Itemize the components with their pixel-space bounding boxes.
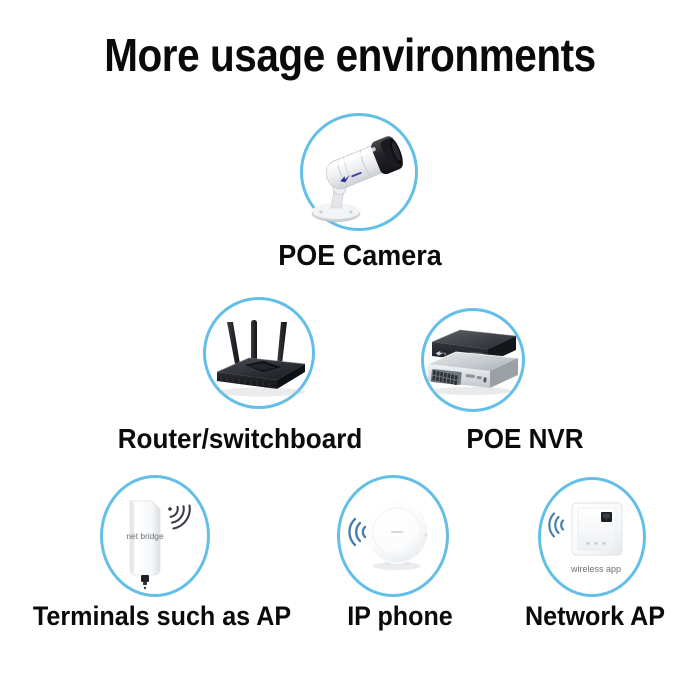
diagram-canvas: More usage environments [0,0,700,700]
panel-antenna-bridge-icon: net bridge [112,487,200,591]
in-wall-access-point-icon: wireless app [546,487,640,591]
device-label-net-bridge: net bridge [126,531,164,541]
wifi-router-icon [207,302,313,406]
bullet-security-camera-icon [303,118,415,228]
nvr-and-poe-switch-icon [426,320,522,402]
device-label-wireless-app: wireless app [570,564,621,574]
caption-router-switchboard: Router/switchboard [87,423,394,455]
ceiling-access-point-icon [345,487,441,587]
caption-terminals-ap: Terminals such as AP [4,601,320,632]
caption-poe-camera: POE Camera [211,240,509,273]
caption-poe-nvr: POE NVR [409,423,642,455]
caption-ip-phone: IP phone [321,601,479,632]
page-title: More usage environments [42,28,658,82]
caption-network-ap: Network AP [502,601,688,632]
